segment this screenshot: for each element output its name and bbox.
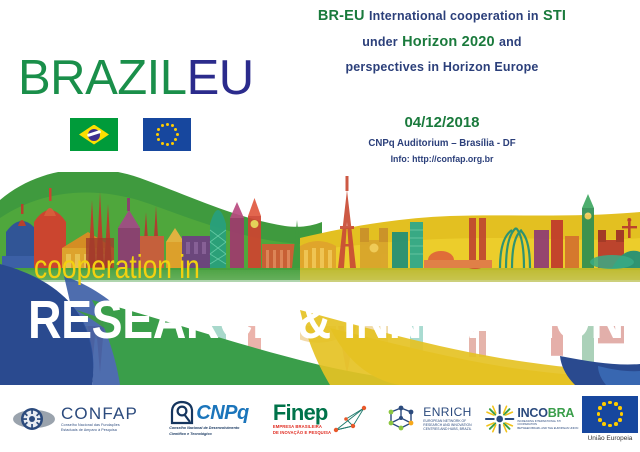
logo-european-union[interactable]: União Europeia xyxy=(580,385,640,452)
eu-star xyxy=(614,402,618,406)
skyline-illustration xyxy=(0,160,640,385)
poster-canvas: cooperation in RESEARCH & INNOVATION BRA… xyxy=(0,0,640,452)
eu-star xyxy=(618,406,622,410)
sponsor-logo-bar: CONFAP Conselho Nacional das Fundações E… xyxy=(0,385,640,452)
eu-star xyxy=(598,418,602,422)
brazil-eu-wordmark: BRAZILEU xyxy=(18,52,254,104)
eu-flag-icon xyxy=(143,118,191,151)
title-block: BR-EU International cooperation in STI u… xyxy=(252,8,632,85)
event-details: 04/12/2018 CNPq Auditorium – Brasília - … xyxy=(252,114,632,166)
eu-star xyxy=(614,422,618,426)
title-line-1: BR-EU International cooperation in STI xyxy=(252,8,632,25)
title-sti: STI xyxy=(543,8,566,24)
cnpq-head-icon xyxy=(169,400,195,425)
title-under: under xyxy=(362,35,398,49)
enrich-network-icon xyxy=(384,403,420,435)
wordmark-brazil: BRAZIL xyxy=(18,51,187,105)
eu-star xyxy=(171,142,174,145)
eu-star xyxy=(597,412,601,416)
incobra-subtitle-1: INCREASING INTERNATIONAL STI COOPERATION xyxy=(517,420,580,427)
title-br-eu: BR-EU xyxy=(318,8,365,24)
eu-star xyxy=(174,128,177,131)
title-horizon-2020: Horizon 2020 xyxy=(402,34,495,50)
finep-network-icon xyxy=(333,404,367,434)
eu-star xyxy=(161,124,164,127)
eu-star xyxy=(161,142,164,145)
eu-star xyxy=(157,138,160,141)
eu-star xyxy=(620,412,624,416)
eu-star xyxy=(608,424,612,428)
eu-star xyxy=(598,406,602,410)
incobra-name: INCOBRA xyxy=(517,407,580,420)
incobra-star-icon xyxy=(484,403,515,435)
title-line-2: under Horizon 2020 and xyxy=(252,34,632,51)
eu-star xyxy=(156,133,159,136)
cnpq-name: CNPq xyxy=(196,403,248,423)
logo-finep[interactable]: Finep EMPRESA BRASILEIRA DE INOVAÇÃO E P… xyxy=(268,385,372,452)
flag-row xyxy=(70,118,191,151)
eu-star xyxy=(602,402,606,406)
finep-name: Finep xyxy=(273,402,331,424)
wordmark-eu: EU xyxy=(187,51,254,105)
logo-enrich[interactable]: ENRICH EUROPEAN NETWORK OF RESEARCH AND … xyxy=(372,385,484,452)
title-perspectives: perspectives in Horizon Europe xyxy=(345,60,538,74)
enrich-subtitle-3: CENTRES AND HUBS, BRAZIL xyxy=(423,427,471,431)
cnpq-subtitle-2: Científico e Tecnológico xyxy=(169,432,211,437)
eu-star xyxy=(176,133,179,136)
eu-star xyxy=(608,401,612,405)
eu-star xyxy=(157,128,160,131)
skyline-artwork xyxy=(0,160,640,385)
title-and: and xyxy=(499,35,522,49)
event-venue: CNPq Auditorium – Brasília - DF xyxy=(252,136,632,152)
finep-subtitle-2: DE INOVAÇÃO E PESQUISA xyxy=(273,430,331,435)
incobra-name-b: BRA xyxy=(548,406,574,420)
eu-star xyxy=(618,418,622,422)
cnpq-subtitle-1: Conselho Nacional de Desenvolvimento xyxy=(169,426,239,431)
eu-star xyxy=(171,124,174,127)
confap-subtitle-2: Estaduais de Amparo à Pesquisa xyxy=(61,428,138,433)
event-venue-text: CNPq Auditorium – Brasília - DF xyxy=(368,138,515,149)
eu-star xyxy=(174,138,177,141)
event-date: 04/12/2018 xyxy=(252,114,632,131)
logo-incobra[interactable]: INCOBRA INCREASING INTERNATIONAL STI COO… xyxy=(484,385,580,452)
brazil-flag-icon xyxy=(70,118,118,151)
logo-cnpq[interactable]: CNPq Conselho Nacional de Desenvolviment… xyxy=(150,385,268,452)
title-intl-coop: International cooperation in xyxy=(369,9,539,23)
enrich-name: ENRICH xyxy=(423,406,471,419)
event-info-link[interactable]: Info: http://confap.org.br xyxy=(391,154,494,164)
confap-emblem-icon xyxy=(12,404,56,434)
eu-star xyxy=(166,123,169,126)
event-info: Info: http://confap.org.br xyxy=(252,152,632,166)
confap-name: CONFAP xyxy=(61,405,138,423)
header: BRAZILEU BR-EU International cooperation… xyxy=(0,0,640,172)
eu-star xyxy=(602,422,606,426)
eu-star xyxy=(166,143,169,146)
incobra-name-a: INCO xyxy=(517,406,547,420)
title-line-3: perspectives in Horizon Europe xyxy=(252,59,632,76)
eu-flag-large-icon xyxy=(582,396,638,433)
eu-caption: União Europeia xyxy=(588,435,633,442)
logo-confap[interactable]: CONFAP Conselho Nacional das Fundações E… xyxy=(0,385,150,452)
incobra-subtitle-2: BETWEEN BRAZIL AND THE EUROPEAN UNION xyxy=(517,427,580,430)
